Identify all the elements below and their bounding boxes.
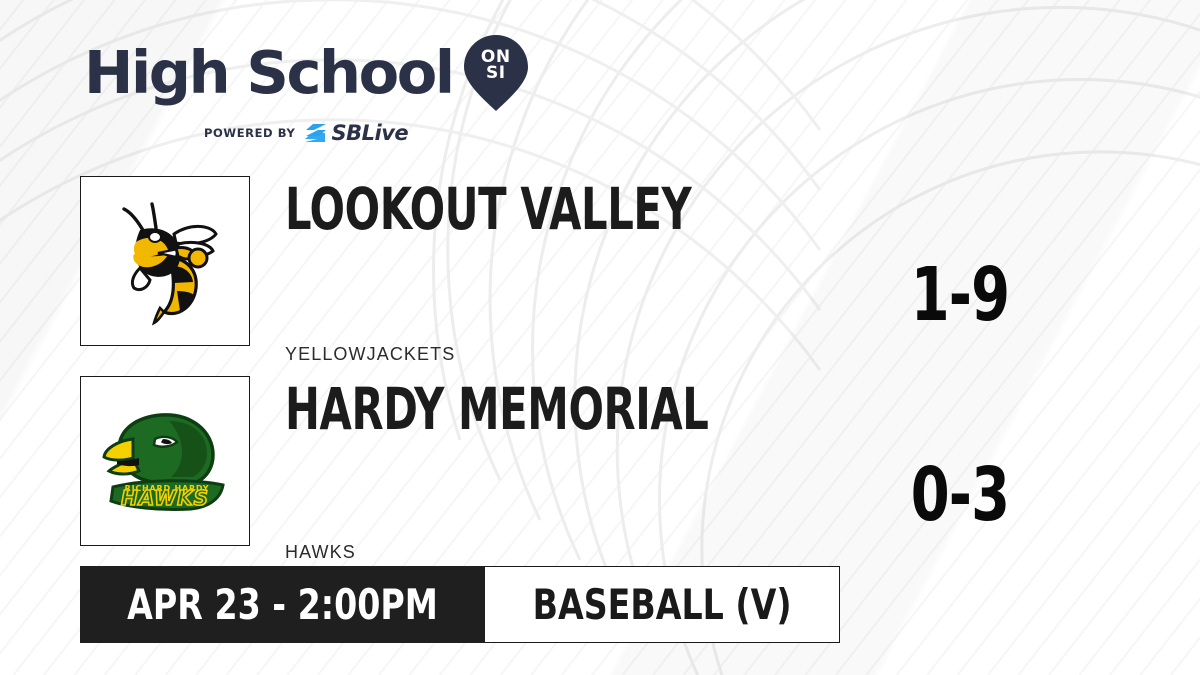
on-si-pin-label: ON SI (463, 49, 529, 81)
powered-by-label: POWERED BY (204, 126, 295, 140)
brand-header: High School ON SI POWERED BY SBLive (84, 34, 514, 145)
game-sport-panel: BASEBALL (V) (485, 566, 840, 643)
team-mascot-away: HAWKS (285, 542, 1120, 563)
team-name-home: LOOKOUT VALLEY (285, 180, 953, 238)
scoreboard-graphic: High School ON SI POWERED BY SBLive (0, 0, 1200, 675)
brand-logo-row: High School ON SI (84, 34, 514, 112)
team-mascot-home: YELLOWJACKETS (285, 344, 1120, 365)
game-info-bar: APR 23 - 2:00PM BASEBALL (V) (80, 566, 840, 643)
sblive-wordmark: SBLive (331, 121, 408, 145)
powered-by-row: POWERED BY SBLive (204, 121, 514, 145)
game-sport-label: BASEBALL (V) (533, 584, 792, 626)
game-datetime-label: APR 23 - 2:00PM (127, 584, 438, 626)
sblive-s-icon (304, 123, 328, 143)
brand-title: High School (84, 43, 453, 103)
sblive-logo: SBLive (304, 121, 408, 145)
yellowjacket-mascot-logo (100, 196, 230, 326)
hawk-mascot-logo: RICHARD HARDY HAWKS (99, 409, 231, 513)
team-logo-box-away: RICHARD HARDY HAWKS (80, 376, 250, 546)
team-record-away: 0-3 (863, 458, 1056, 532)
game-datetime-panel: APR 23 - 2:00PM (80, 566, 485, 643)
team-record-home: 1-9 (863, 258, 1056, 332)
pin-line-si: SI (463, 65, 529, 81)
team-logo-box-home (80, 176, 250, 346)
svg-text:HAWKS: HAWKS (121, 486, 209, 510)
on-si-pin-icon: ON SI (463, 34, 529, 112)
team-name-away: HARDY MEMORIAL (285, 380, 953, 438)
